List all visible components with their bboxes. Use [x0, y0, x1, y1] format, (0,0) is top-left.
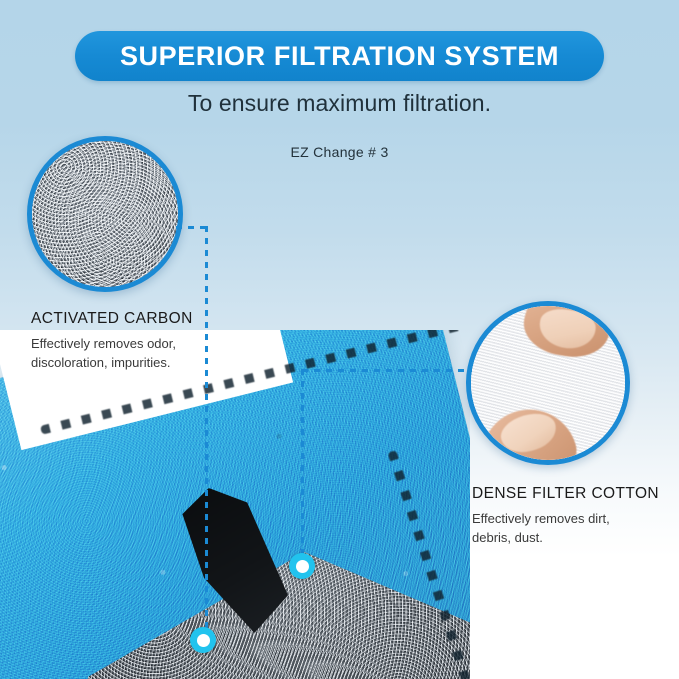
marker-dot-carbon — [190, 627, 216, 653]
connector-carbon-horizontal — [176, 226, 208, 229]
product-infographic: SUPERIOR FILTRATION SYSTEM To ensure max… — [0, 0, 679, 679]
magnifier-dense-filter-cotton — [466, 301, 630, 465]
page-title-banner: SUPERIOR FILTRATION SYSTEM — [75, 31, 604, 81]
callout-heading: ACTIVATED CARBON — [31, 310, 193, 328]
marker-dot-cotton — [289, 553, 315, 579]
callout-description-line2: discoloration, impurities. — [31, 354, 193, 373]
connector-cotton-vertical — [301, 369, 304, 559]
callout-dense-filter-cotton: DENSE FILTER COTTON Effectively removes … — [472, 485, 659, 548]
page-title: SUPERIOR FILTRATION SYSTEM — [120, 41, 559, 72]
activated-carbon-granules-icon — [32, 141, 178, 287]
page-subtitle: To ensure maximum filtration. — [0, 90, 679, 117]
product-photo — [0, 330, 470, 679]
magnifier-activated-carbon — [27, 136, 183, 292]
fingernail-top-icon — [537, 306, 598, 352]
callout-activated-carbon: ACTIVATED CARBON Effectively removes odo… — [31, 310, 193, 373]
callout-description-line1: Effectively removes dirt, — [472, 510, 659, 529]
callout-heading: DENSE FILTER COTTON — [472, 485, 659, 503]
callout-description: Effectively removes odor, discoloration,… — [31, 335, 193, 373]
callout-description: Effectively removes dirt, debris, dust. — [472, 510, 659, 548]
connector-cotton-horizontal — [302, 369, 472, 372]
callout-description-line1: Effectively removes odor, — [31, 335, 193, 354]
fingernail-bottom-icon — [497, 408, 561, 458]
callout-description-line2: debris, dust. — [472, 529, 659, 548]
connector-carbon-vertical — [205, 226, 208, 630]
